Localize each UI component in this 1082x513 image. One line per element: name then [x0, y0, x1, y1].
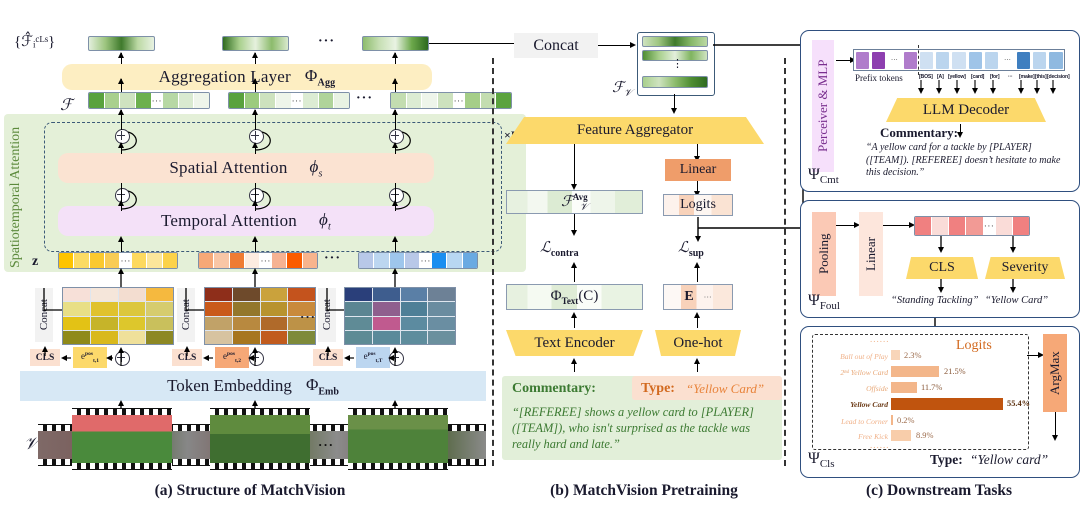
e-block-label: E	[684, 289, 693, 305]
text-token-ellipsis: ···	[1001, 52, 1014, 69]
panel-b-left-divider	[492, 58, 494, 466]
text-token-4	[969, 52, 982, 69]
patch-grid-ellipsis: ···	[300, 309, 316, 325]
fv-label: ℱ𝒱	[612, 78, 632, 99]
z-token-row-3: ···	[358, 252, 478, 269]
arrowhead-z-temporal-3	[392, 236, 398, 242]
video-frame-2	[210, 408, 310, 470]
logits-block-b: Logits	[663, 194, 733, 216]
pos-add-3	[389, 351, 404, 366]
text-token-label-5: ···	[1008, 74, 1013, 80]
spatial-attention-block: Spatial Attention ϕs	[58, 153, 434, 183]
foul-severity-value: “Yellow Card”	[985, 295, 1048, 306]
cls-box-2: CLS	[172, 349, 202, 366]
prefix-and-text-token-row: ··· ···	[853, 49, 1065, 71]
arrowhead-spatial-oplus-3	[392, 142, 398, 148]
loss-contra-label: ℒcontra	[540, 238, 579, 259]
text-token-7	[1033, 52, 1046, 69]
phi-text-block: ΦText(C)	[506, 284, 643, 310]
prefix-token-ellipsis: ···	[888, 52, 901, 69]
panel-b-caption: (b) MatchVision Pretraining	[518, 482, 770, 500]
bar-rect-2	[891, 382, 917, 393]
arrow-argmax-to-type	[1055, 412, 1056, 437]
linear-label-foul: Linear	[859, 212, 883, 296]
cls-box-3-label: CLS	[319, 353, 337, 363]
text-token-label-8: [decision]	[1047, 74, 1070, 80]
z-token-row-1: ···	[58, 252, 178, 269]
video-frames-ellipsis: ···	[318, 437, 334, 453]
arrowhead-agg-to-cls-3	[392, 52, 398, 58]
text-token-3	[952, 52, 965, 69]
fv-row-1	[642, 36, 708, 47]
aggregation-layer: Aggregation Layer ΦAgg	[62, 64, 432, 90]
feature-aggregator-label: Feature Aggregator	[577, 122, 693, 139]
commentary-label-b: Commentary:	[512, 381, 596, 397]
linear-block-b: Linear	[665, 159, 731, 181]
psi-cmt-label: ΨCmt	[808, 166, 839, 186]
token-embedding-symbol: ΦEmb	[306, 375, 339, 397]
type-label-b: Type:	[641, 381, 675, 397]
foul-cls-label: CLS	[929, 260, 955, 276]
arrowhead-agg-to-cls-1	[118, 52, 124, 58]
arrowhead-argmax-type	[1052, 435, 1058, 441]
concat-box-2: Concat	[177, 288, 195, 342]
arrowhead-spatial-oplus-2	[252, 142, 258, 148]
cls-feature-ellipsis: ···	[318, 34, 335, 50]
phi-text-label: ΦText(C)	[551, 288, 599, 306]
bar-rect-0	[891, 350, 900, 360]
arrowhead-feat-to-agg-1	[118, 78, 124, 84]
e-block: E ···	[663, 284, 733, 310]
cmt-commentary-text: “A yellow card for a tackle by [PLAYER] …	[866, 142, 1072, 180]
feature-label: ℱ	[60, 95, 73, 115]
aggregation-layer-symbol: ΦAgg	[305, 66, 335, 88]
fv-stack-vertical-ellipsis: ⋮	[672, 60, 683, 68]
token-embedding-block: Token Embedding ΦEmb	[20, 371, 486, 401]
logits-chart-title: Logits	[956, 338, 992, 354]
arrowhead-type-onehot	[694, 358, 700, 364]
arrowhead-concat-to-fv	[630, 42, 636, 48]
fv-avg-block: ℱAvg𝒱	[506, 190, 643, 214]
logits-bottom-ellipsis: ......	[870, 440, 890, 450]
spatiotemporal-attention-label: Spatiotemporal Attention	[8, 120, 24, 268]
line-cls-to-concat	[429, 43, 518, 44]
pos-embedding-2: epost,2	[215, 347, 249, 368]
concat-block-b-label: Concat	[533, 37, 578, 55]
psi-cls-label: ΨCls	[808, 450, 835, 470]
bar-rect-1	[891, 366, 939, 377]
z-token-row-2: ···	[198, 252, 318, 269]
cls-features-label: {ℱ̂ᵢᶜᴸˢ}	[14, 32, 55, 51]
arrow-concat-to-fv	[598, 45, 632, 46]
arrowhead-onehot-e	[694, 312, 700, 318]
token-embedding-label: Token Embedding	[167, 376, 292, 396]
text-token-label-2: [yellow]	[948, 74, 966, 80]
text-token-label-1: [A]	[937, 74, 944, 80]
text-token-2	[936, 52, 949, 69]
arrowhead-z-temporal-1	[118, 236, 124, 242]
text-token-1	[920, 52, 933, 69]
feature-sequence-1: ···	[88, 92, 210, 109]
concat-box-2-label: Concat	[180, 299, 192, 330]
linear-block-b-label: Linear	[680, 162, 717, 178]
text-token-label-0: [BOS]	[919, 74, 933, 80]
prefix-token-2	[872, 52, 885, 69]
bar-label-1: 2ⁿᵈ Yellow Card	[810, 368, 888, 377]
text-token-label-4: [for]	[990, 74, 999, 80]
arrowhead-spatial-oplus-1	[118, 142, 124, 148]
foul-severity-head: Severity	[985, 257, 1065, 279]
feature-aggregator-block: Feature Aggregator	[506, 117, 764, 144]
bar-rect-3	[891, 398, 1003, 410]
pooling-label: Pooling	[812, 212, 836, 296]
prefix-token-1	[856, 52, 869, 69]
temporal-attention-label: Temporal Attention	[161, 211, 297, 231]
cmt-commentary-label: Commentary:	[880, 125, 958, 141]
arrowhead-textencoder-phitext	[571, 312, 577, 318]
concat-box-3-label: Concat	[321, 299, 333, 330]
pos-embedding-2-label: epost,2	[223, 351, 241, 364]
arrow-pooling-to-linear	[836, 225, 856, 226]
prefix-text-token-divider	[918, 45, 919, 75]
llm-decoder-label: LLM Decoder	[923, 102, 1009, 119]
fv-row-3	[642, 76, 708, 88]
arrowhead-agg-to-cls-2	[252, 52, 258, 58]
pos-embedding-3: epost,T	[356, 347, 390, 368]
cls-feature-bar-2	[222, 36, 289, 51]
video-label: 𝒱	[24, 434, 38, 454]
one-hot-block: One-hot	[655, 330, 741, 356]
foul-cls-value: “Standing Tackling”	[891, 295, 978, 306]
concat-block-b: Concat	[514, 33, 598, 58]
pos-embedding-1-label: epost,1	[81, 351, 99, 364]
psi-foul-label: ΨFoul	[808, 292, 840, 312]
patch-grid-1	[62, 287, 174, 345]
logits-top-ellipsis: ......	[870, 334, 890, 344]
fv-avg-label: ℱAvg𝒱	[561, 192, 588, 213]
cls-box-1: CLS	[30, 349, 60, 366]
bar-pct-1: 21.5%	[944, 367, 966, 376]
video-frame-2-image	[210, 415, 310, 463]
foul-severity-label: Severity	[1002, 260, 1049, 276]
text-token-6	[1017, 52, 1030, 69]
bar-pct-3: 55.4%	[1007, 399, 1030, 408]
arrowhead-z-temporal-2	[252, 236, 258, 242]
temporal-attention-symbol: ϕt	[319, 210, 331, 232]
patch-grid-3	[344, 287, 456, 345]
text-encoder-block: Text Encoder	[506, 330, 643, 356]
arrowhead-feat-to-agg-2	[252, 78, 258, 84]
bar-label-4: Lead to Corner	[810, 417, 888, 426]
text-token-5	[985, 52, 998, 69]
aggregation-layer-label: Aggregation Layer	[159, 67, 291, 87]
perceiver-mlp-label: Perceiver & MLP	[812, 40, 834, 172]
loss-sup-label: ℒsup	[678, 238, 704, 259]
arrowhead-oplus-to-F-3	[392, 109, 398, 115]
panel-c-caption: (c) Downstream Tasks	[800, 482, 1078, 500]
logits-block-b-label: Logits	[680, 197, 716, 213]
arrowhead-oplus-to-F-2	[252, 109, 258, 115]
pos-add-1	[115, 351, 130, 366]
arrowhead-fvavg-losscontra	[571, 230, 577, 236]
bar-rect-4	[891, 415, 893, 425]
z-row-ellipsis: ···	[324, 251, 341, 267]
bar-label-0: Ball out of Play	[816, 352, 888, 361]
concat-box-3: Concat	[318, 288, 336, 342]
spatial-attention-label: Spatial Attention	[169, 158, 287, 178]
feature-sequence-ellipsis: ···	[356, 91, 373, 107]
cls-feature-bar-3	[362, 36, 429, 51]
bar-label-3: Yellow Card	[816, 400, 888, 409]
foul-feature-row: ···	[914, 216, 1030, 236]
arrow-aggregator-to-fvavg	[574, 144, 575, 186]
panel-b-right-divider	[784, 58, 786, 466]
cls-type-value: “Yellow card”	[970, 452, 1048, 468]
arrowhead-commentary-textencoder	[571, 358, 577, 364]
z-label: z	[32, 254, 38, 270]
video-frame-3-image	[348, 415, 448, 463]
pos-embedding-1: epost,1	[73, 347, 107, 368]
pos-embedding-3-label: epost,T	[364, 351, 383, 364]
cls-feature-bar-1	[88, 36, 155, 51]
cls-box-2-label: CLS	[178, 353, 196, 363]
arrowhead-e-losssup	[694, 262, 700, 268]
panel-a-caption: (a) Structure of MatchVision	[90, 482, 410, 500]
pos-add-2	[249, 351, 264, 366]
prefix-token-3	[904, 52, 917, 69]
cls-box-3: CLS	[313, 349, 343, 366]
one-hot-label: One-hot	[673, 335, 722, 352]
type-value-b: “Yellow Card”	[686, 381, 764, 397]
arrowhead-temporal-oplus-1	[118, 200, 124, 206]
spatial-attention-symbol: ϕs	[310, 157, 323, 179]
arrowhead-temporal-oplus-2	[252, 200, 258, 206]
arrowhead-phitext-losscontra	[571, 262, 577, 268]
cls-box-1-label: CLS	[36, 353, 54, 363]
bar-label-2: Offside	[816, 384, 888, 393]
text-token-8	[1049, 52, 1062, 69]
argmax-label: ArgMax	[1043, 334, 1067, 412]
cls-type-label: Type:	[930, 452, 963, 468]
bar-pct-2: 11.7%	[921, 383, 942, 392]
text-token-label-7: [this]	[1035, 74, 1046, 80]
arrow-linear-to-foulfeat	[883, 225, 911, 226]
bar-pct-0: 2.3%	[904, 351, 921, 360]
video-frame-3	[348, 408, 448, 470]
arrowhead-fv-to-aggregator	[671, 108, 677, 114]
bar-rect-5	[891, 430, 911, 441]
prefix-tokens-label: Prefix tokens	[855, 73, 903, 83]
feature-sequence-2: ···	[228, 92, 350, 109]
arrowhead-oplus-to-F-1	[118, 109, 124, 115]
bar-pct-4: 0.2%	[897, 416, 914, 425]
llm-decoder-block: LLM Decoder	[886, 98, 1046, 122]
temporal-attention-block: Temporal Attention ϕt	[58, 206, 434, 236]
video-frame-1	[72, 408, 172, 470]
arrowhead-temporal-oplus-3	[392, 200, 398, 206]
text-encoder-label: Text Encoder	[534, 335, 614, 352]
concat-box-1-label: Concat	[38, 299, 50, 330]
text-token-label-3: [card]	[971, 74, 984, 80]
bar-pct-5: 8.9%	[916, 431, 933, 440]
arrowhead-feat-to-agg-3	[392, 78, 398, 84]
foul-cls-head: CLS	[906, 257, 978, 279]
concat-box-1: Concat	[35, 288, 53, 342]
text-token-label-6: [make]	[1019, 74, 1035, 80]
video-frame-1-image	[72, 415, 172, 463]
commentary-text-b: “[REFEREE] shows a yellow card to [PLAYE…	[512, 404, 774, 452]
